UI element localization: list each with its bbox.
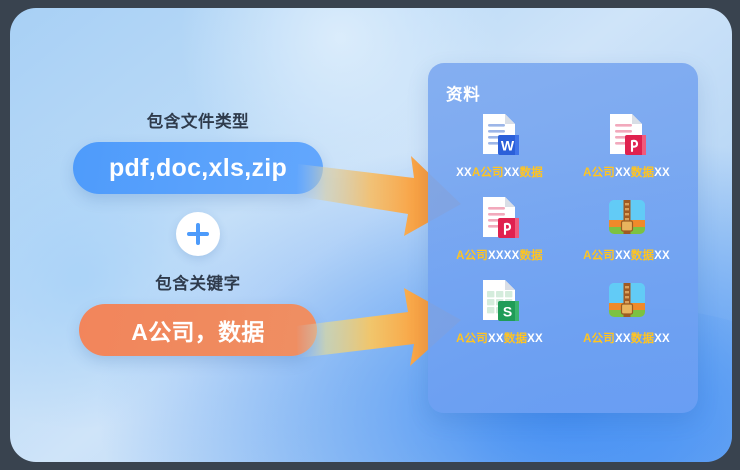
keyword-condition-pill[interactable]: A公司，数据: [79, 304, 317, 356]
results-panel-title: 资料: [446, 81, 481, 105]
results-panel: 资料 WXXA公司XX数据A公司XX数据XXA公司XXXX数据A公司XX数据XX…: [428, 63, 698, 413]
file-item[interactable]: A公司XX数据XX: [563, 277, 690, 346]
file-label-segment: A公司: [583, 250, 615, 262]
file-label-segment: XX: [654, 167, 670, 179]
file-label-segment: XX: [504, 167, 520, 179]
file-label-segment: XX: [654, 250, 670, 262]
file-label-segment: XX: [456, 167, 472, 179]
file-label-segment: XX: [615, 250, 631, 262]
filetype-condition-pill[interactable]: pdf,doc,xls,zip: [73, 142, 323, 194]
zip-archive-icon: [604, 194, 650, 240]
file-label-segment: 数据: [519, 250, 542, 262]
file-item[interactable]: A公司XXXX数据: [436, 194, 563, 263]
pdf-document-icon: [477, 194, 523, 240]
file-item-label: A公司XX数据XX: [583, 330, 670, 346]
illustration-card: 包含文件类型 pdf,doc,xls,zip 包含关键字 A公司，数据: [10, 8, 732, 462]
screenshot-stage: 包含文件类型 pdf,doc,xls,zip 包含关键字 A公司，数据: [0, 0, 740, 470]
zip-archive-icon: [604, 277, 650, 323]
file-item[interactable]: A公司XX数据XX: [563, 194, 690, 263]
file-label-segment: 数据: [631, 333, 654, 345]
filetype-condition-label: 包含文件类型: [28, 108, 368, 132]
file-label-segment: XX: [527, 333, 543, 345]
file-label-segment: 数据: [631, 167, 654, 179]
file-item[interactable]: SA公司XX数据XX: [436, 277, 563, 346]
file-label-segment: 数据: [520, 167, 543, 179]
file-item-label: A公司XXXX数据: [456, 247, 543, 263]
file-label-segment: XX: [615, 333, 631, 345]
file-label-segment: 数据: [631, 250, 654, 262]
file-item-label: A公司XX数据XX: [456, 330, 543, 346]
file-label-segment: XX: [488, 333, 504, 345]
file-item-label: A公司XX数据XX: [583, 247, 670, 263]
file-label-segment: XX: [615, 167, 631, 179]
file-label-segment: XXXX: [488, 250, 519, 262]
plus-operator: [176, 212, 220, 256]
plus-icon: [176, 212, 220, 256]
file-item-label: A公司XX数据XX: [583, 164, 670, 180]
file-label-segment: A公司: [583, 333, 615, 345]
file-label-segment: A公司: [583, 167, 615, 179]
conditions-column: 包含文件类型 pdf,doc,xls,zip 包含关键字 A公司，数据: [28, 108, 368, 356]
file-label-segment: A公司: [472, 167, 504, 179]
file-label-segment: A公司: [456, 333, 488, 345]
excel-document-icon: S: [477, 277, 523, 323]
file-grid: WXXA公司XX数据A公司XX数据XXA公司XXXX数据A公司XX数据XXSA公…: [436, 111, 690, 346]
svg-text:W: W: [500, 138, 514, 154]
file-item-label: XXA公司XX数据: [456, 164, 543, 180]
file-label-segment: A公司: [456, 250, 488, 262]
file-label-segment: XX: [654, 333, 670, 345]
file-label-segment: 数据: [504, 333, 527, 345]
svg-text:S: S: [502, 304, 511, 320]
keyword-condition-label: 包含关键字: [28, 270, 368, 294]
file-item[interactable]: A公司XX数据XX: [563, 111, 690, 180]
file-item[interactable]: WXXA公司XX数据: [436, 111, 563, 180]
pdf-document-icon: [604, 111, 650, 157]
word-document-icon: W: [477, 111, 523, 157]
